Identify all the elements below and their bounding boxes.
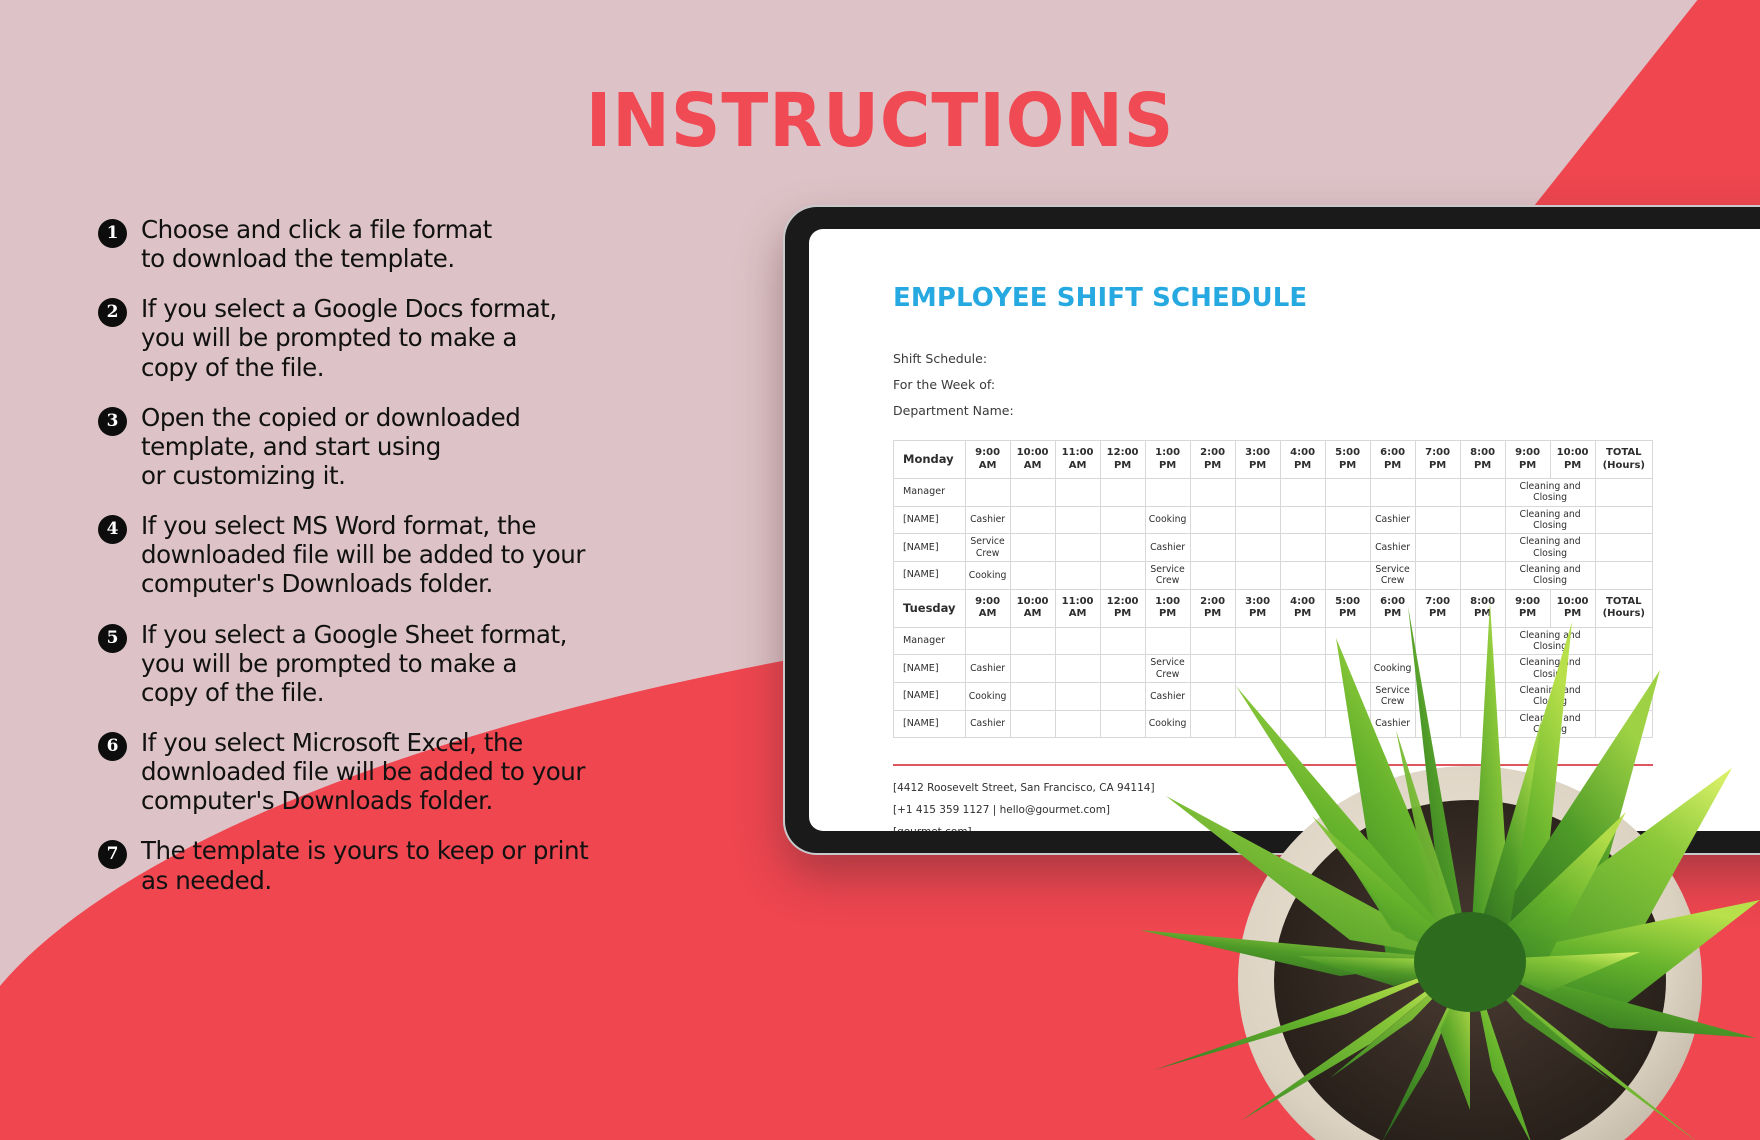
shift-cell[interactable] xyxy=(1190,561,1235,589)
shift-cell[interactable] xyxy=(1280,534,1325,562)
shift-cell[interactable] xyxy=(1100,534,1145,562)
shift-cell[interactable] xyxy=(1010,682,1055,710)
closing-shift-cell[interactable]: Cleaning and Closing xyxy=(1505,479,1595,507)
instruction-step: 2If you select a Google Docs format, you… xyxy=(98,294,678,381)
shift-cell[interactable] xyxy=(1235,682,1280,710)
shift-cell[interactable] xyxy=(1055,506,1100,534)
shift-cell[interactable] xyxy=(1415,479,1460,507)
hour-column-header: 3:00 PM xyxy=(1235,441,1280,479)
instruction-step: 5If you select a Google Sheet format, yo… xyxy=(98,620,678,707)
hour-column-header: 11:00 AM xyxy=(1055,589,1100,627)
step-number-badge: 4 xyxy=(98,515,127,544)
shift-cell[interactable]: Cooking xyxy=(1370,655,1415,683)
shift-cell[interactable] xyxy=(1415,506,1460,534)
shift-cell[interactable] xyxy=(1010,627,1055,655)
step-text: Choose and click a file format to downlo… xyxy=(141,215,492,273)
shift-cell[interactable] xyxy=(1190,627,1235,655)
shift-cell[interactable]: Cashier xyxy=(1370,534,1415,562)
shift-cell[interactable] xyxy=(1415,710,1460,738)
shift-cell[interactable] xyxy=(1325,655,1370,683)
hour-column-header: 1:00 PM xyxy=(1145,441,1190,479)
shift-cell[interactable] xyxy=(1190,506,1235,534)
shift-cell[interactable] xyxy=(1415,655,1460,683)
shift-cell[interactable] xyxy=(1280,710,1325,738)
shift-cell[interactable] xyxy=(1235,655,1280,683)
hour-column-header: 1:00 PM xyxy=(1145,589,1190,627)
shift-cell[interactable] xyxy=(1190,479,1235,507)
shift-cell[interactable] xyxy=(1280,561,1325,589)
instruction-step: 3Open the copied or downloaded template,… xyxy=(98,403,678,490)
hour-column-header: 4:00 PM xyxy=(1280,441,1325,479)
hour-column-header: 9:00 AM xyxy=(965,441,1010,479)
shift-cell[interactable] xyxy=(1190,534,1235,562)
shift-cell[interactable] xyxy=(1460,627,1505,655)
shift-cell[interactable]: Cashier xyxy=(1145,534,1190,562)
shift-cell[interactable] xyxy=(1100,627,1145,655)
total-hours-cell[interactable] xyxy=(1595,534,1652,562)
shift-cell[interactable] xyxy=(1100,479,1145,507)
step-text: The template is yours to keep or print a… xyxy=(141,836,588,894)
page-title: INSTRUCTIONS xyxy=(62,78,1699,164)
shift-schedule-document: EMPLOYEE SHIFT SCHEDULE Shift Schedule:F… xyxy=(893,283,1760,831)
hour-column-header: 12:00 PM xyxy=(1100,441,1145,479)
shift-cell[interactable]: Cashier xyxy=(965,506,1010,534)
shift-schedule-table: Monday9:00 AM10:00 AM11:00 AM12:00 PM1:0… xyxy=(893,440,1653,738)
shift-cell[interactable]: Service Crew xyxy=(1370,682,1415,710)
hour-column-header: 10:00 AM xyxy=(1010,589,1055,627)
shift-cell[interactable] xyxy=(1325,561,1370,589)
step-number-badge: 6 xyxy=(98,732,127,761)
hour-column-header: 6:00 PM xyxy=(1370,589,1415,627)
shift-cell[interactable] xyxy=(1325,479,1370,507)
hour-column-header: 10:00 AM xyxy=(1010,441,1055,479)
schedule-row: ManagerCleaning and Closing xyxy=(894,627,1653,655)
shift-cell[interactable]: Cashier xyxy=(1370,710,1415,738)
employee-label-cell[interactable]: [NAME] xyxy=(894,710,966,738)
shift-cell[interactable] xyxy=(1370,479,1415,507)
shift-cell[interactable] xyxy=(1280,627,1325,655)
closing-shift-cell[interactable]: Cleaning and Closing xyxy=(1505,655,1595,683)
shift-cell[interactable] xyxy=(1280,479,1325,507)
shift-cell[interactable] xyxy=(1055,627,1100,655)
hour-column-header: 10:00 PM xyxy=(1550,441,1595,479)
tablet-screen: EMPLOYEE SHIFT SCHEDULE Shift Schedule:F… xyxy=(809,229,1760,831)
employee-label-cell[interactable]: [NAME] xyxy=(894,561,966,589)
closing-shift-cell[interactable]: Cleaning and Closing xyxy=(1505,627,1595,655)
shift-cell[interactable] xyxy=(1010,479,1055,507)
shift-cell[interactable] xyxy=(1235,561,1280,589)
step-number-badge: 3 xyxy=(98,407,127,436)
instruction-step: 4If you select MS Word format, the downl… xyxy=(98,511,678,598)
shift-cell[interactable]: Cashier xyxy=(965,710,1010,738)
hour-column-header: 7:00 PM xyxy=(1415,589,1460,627)
shift-cell[interactable] xyxy=(1235,710,1280,738)
instruction-step: 7The template is yours to keep or print … xyxy=(98,836,678,894)
shift-cell[interactable] xyxy=(1100,506,1145,534)
shift-cell[interactable] xyxy=(1325,627,1370,655)
step-number-badge: 2 xyxy=(98,298,127,327)
shift-cell[interactable]: Cooking xyxy=(965,561,1010,589)
employee-label-cell[interactable]: [NAME] xyxy=(894,506,966,534)
hour-column-header: 10:00 PM xyxy=(1550,589,1595,627)
closing-shift-cell[interactable]: Cleaning and Closing xyxy=(1505,506,1595,534)
hour-column-header: 4:00 PM xyxy=(1280,589,1325,627)
shift-cell[interactable] xyxy=(1460,534,1505,562)
total-hours-cell[interactable] xyxy=(1595,627,1652,655)
shift-cell[interactable] xyxy=(1415,561,1460,589)
document-divider-rule xyxy=(893,764,1653,766)
document-field-list: Shift Schedule:For the Week of:Departmen… xyxy=(893,351,1760,418)
shift-cell[interactable] xyxy=(1010,655,1055,683)
shift-cell[interactable] xyxy=(1235,479,1280,507)
step-text: If you select a Google Docs format, you … xyxy=(141,294,557,381)
total-hours-cell[interactable] xyxy=(1595,506,1652,534)
step-number-badge: 1 xyxy=(98,219,127,248)
shift-cell[interactable]: Service Crew xyxy=(1370,561,1415,589)
schedule-row: [NAME]CashierService CrewCookingCleaning… xyxy=(894,655,1653,683)
shift-cell[interactable] xyxy=(1325,506,1370,534)
step-text: If you select MS Word format, the downlo… xyxy=(141,511,585,598)
shift-cell[interactable] xyxy=(1460,506,1505,534)
shift-cell[interactable] xyxy=(1325,682,1370,710)
shift-cell[interactable] xyxy=(1235,506,1280,534)
shift-cell[interactable] xyxy=(1325,534,1370,562)
employee-label-cell[interactable]: [NAME] xyxy=(894,655,966,683)
document-field: For the Week of: xyxy=(893,377,1760,392)
shift-cell[interactable] xyxy=(1100,655,1145,683)
total-hours-cell[interactable] xyxy=(1595,710,1652,738)
hour-column-header: 2:00 PM xyxy=(1190,589,1235,627)
closing-shift-cell[interactable]: Cleaning and Closing xyxy=(1505,682,1595,710)
hour-column-header: 6:00 PM xyxy=(1370,441,1415,479)
schedule-row: [NAME]Service CrewCashierCashierCleaning… xyxy=(894,534,1653,562)
schedule-row: [NAME]CashierCookingCashierCleaning and … xyxy=(894,506,1653,534)
employee-label-cell[interactable]: Manager xyxy=(894,479,966,507)
shift-cell[interactable] xyxy=(1010,561,1055,589)
instruction-step: 1Choose and click a file format to downl… xyxy=(98,215,678,273)
shift-cell[interactable] xyxy=(1055,655,1100,683)
shift-cell[interactable] xyxy=(1010,710,1055,738)
shift-cell[interactable] xyxy=(1055,561,1100,589)
document-contact-block: [4412 Roosevelt Street, San Francisco, C… xyxy=(893,782,1760,831)
hour-column-header: 11:00 AM xyxy=(1055,441,1100,479)
shift-cell[interactable] xyxy=(1145,479,1190,507)
shift-cell[interactable] xyxy=(1235,627,1280,655)
shift-cell[interactable] xyxy=(1460,682,1505,710)
closing-shift-cell[interactable]: Cleaning and Closing xyxy=(1505,710,1595,738)
employee-label-cell[interactable]: Manager xyxy=(894,627,966,655)
shift-cell[interactable] xyxy=(1460,561,1505,589)
shift-cell[interactable] xyxy=(1100,710,1145,738)
hour-column-header: 12:00 PM xyxy=(1100,589,1145,627)
shift-cell[interactable] xyxy=(1370,627,1415,655)
shift-cell[interactable]: Service Crew xyxy=(1145,655,1190,683)
shift-cell[interactable] xyxy=(1460,479,1505,507)
shift-cell[interactable] xyxy=(1415,534,1460,562)
hour-column-header: 8:00 PM xyxy=(1460,589,1505,627)
instruction-step: 6If you select Microsoft Excel, the down… xyxy=(98,728,678,815)
total-hours-cell[interactable] xyxy=(1595,561,1652,589)
shift-cell[interactable]: Service Crew xyxy=(1145,561,1190,589)
shift-cell[interactable] xyxy=(965,479,1010,507)
hour-column-header: 5:00 PM xyxy=(1325,589,1370,627)
shift-cell[interactable] xyxy=(1100,682,1145,710)
day-header-row: Monday9:00 AM10:00 AM11:00 AM12:00 PM1:0… xyxy=(894,441,1653,479)
hour-column-header: 9:00 PM xyxy=(1505,441,1550,479)
shift-cell[interactable] xyxy=(1280,682,1325,710)
shift-cell[interactable]: Service Crew xyxy=(965,534,1010,562)
day-name-header: Tuesday xyxy=(894,589,966,627)
shift-cell[interactable] xyxy=(1055,710,1100,738)
document-field: Shift Schedule: xyxy=(893,351,1760,366)
schedule-row: [NAME]CashierCookingCashierCleaning and … xyxy=(894,710,1653,738)
shift-cell[interactable] xyxy=(1145,627,1190,655)
contact-line: [gourmet.com] xyxy=(893,826,1760,831)
hour-column-header: 9:00 PM xyxy=(1505,589,1550,627)
hour-column-header: 3:00 PM xyxy=(1235,589,1280,627)
day-name-header: Monday xyxy=(894,441,966,479)
document-title: EMPLOYEE SHIFT SCHEDULE xyxy=(893,283,1760,313)
closing-shift-cell[interactable]: Cleaning and Closing xyxy=(1505,534,1595,562)
hour-column-header: 8:00 PM xyxy=(1460,441,1505,479)
step-text: If you select Microsoft Excel, the downl… xyxy=(141,728,585,815)
hour-column-header: 9:00 AM xyxy=(965,589,1010,627)
schedule-row: [NAME]CookingCashierService CrewCleaning… xyxy=(894,682,1653,710)
hour-column-header: 7:00 PM xyxy=(1415,441,1460,479)
total-column-header: TOTAL (Hours) xyxy=(1595,589,1652,627)
shift-cell[interactable]: Cashier xyxy=(1145,682,1190,710)
total-hours-cell[interactable] xyxy=(1595,682,1652,710)
shift-cell[interactable]: Cooking xyxy=(1145,506,1190,534)
day-header-row: Tuesday9:00 AM10:00 AM11:00 AM12:00 PM1:… xyxy=(894,589,1653,627)
shift-cell[interactable] xyxy=(1055,479,1100,507)
schedule-row: [NAME]CookingService CrewService CrewCle… xyxy=(894,561,1653,589)
shift-cell[interactable]: Cashier xyxy=(1370,506,1415,534)
step-text: If you select a Google Sheet format, you… xyxy=(141,620,567,707)
step-number-badge: 7 xyxy=(98,840,127,869)
document-field: Department Name: xyxy=(893,403,1760,418)
instructions-list: 1Choose and click a file format to downl… xyxy=(98,215,678,916)
shift-cell[interactable] xyxy=(1190,710,1235,738)
shift-cell[interactable] xyxy=(965,627,1010,655)
total-hours-cell[interactable] xyxy=(1595,655,1652,683)
shift-cell[interactable] xyxy=(1460,655,1505,683)
shift-cell[interactable]: Cashier xyxy=(965,655,1010,683)
shift-cell[interactable] xyxy=(1010,506,1055,534)
total-hours-cell[interactable] xyxy=(1595,479,1652,507)
shift-cell[interactable] xyxy=(1415,682,1460,710)
tablet-device-mockup: EMPLOYEE SHIFT SCHEDULE Shift Schedule:F… xyxy=(783,205,1760,855)
employee-label-cell[interactable]: [NAME] xyxy=(894,682,966,710)
total-column-header: TOTAL (Hours) xyxy=(1595,441,1652,479)
shift-cell[interactable] xyxy=(1055,534,1100,562)
employee-label-cell[interactable]: [NAME] xyxy=(894,534,966,562)
shift-cell[interactable] xyxy=(1235,534,1280,562)
closing-shift-cell[interactable]: Cleaning and Closing xyxy=(1505,561,1595,589)
shift-cell[interactable] xyxy=(1280,506,1325,534)
contact-line: [4412 Roosevelt Street, San Francisco, C… xyxy=(893,782,1760,794)
shift-cell[interactable] xyxy=(1190,655,1235,683)
shift-cell[interactable] xyxy=(1010,534,1055,562)
step-number-badge: 5 xyxy=(98,624,127,653)
shift-cell[interactable] xyxy=(1280,655,1325,683)
shift-cell[interactable]: Cooking xyxy=(1145,710,1190,738)
shift-cell[interactable] xyxy=(1190,682,1235,710)
shift-cell[interactable] xyxy=(1460,710,1505,738)
shift-cell[interactable] xyxy=(1055,682,1100,710)
shift-cell[interactable] xyxy=(1100,561,1145,589)
step-text: Open the copied or downloaded template, … xyxy=(141,403,520,490)
hour-column-header: 2:00 PM xyxy=(1190,441,1235,479)
hour-column-header: 5:00 PM xyxy=(1325,441,1370,479)
shift-cell[interactable] xyxy=(1415,627,1460,655)
shift-cell[interactable] xyxy=(1325,710,1370,738)
contact-line: [+1 415 359 1127 | hello@gourmet.com] xyxy=(893,804,1760,816)
shift-cell[interactable]: Cooking xyxy=(965,682,1010,710)
schedule-row: ManagerCleaning and Closing xyxy=(894,479,1653,507)
poster-canvas: INSTRUCTIONS 1Choose and click a file fo… xyxy=(0,0,1760,1140)
